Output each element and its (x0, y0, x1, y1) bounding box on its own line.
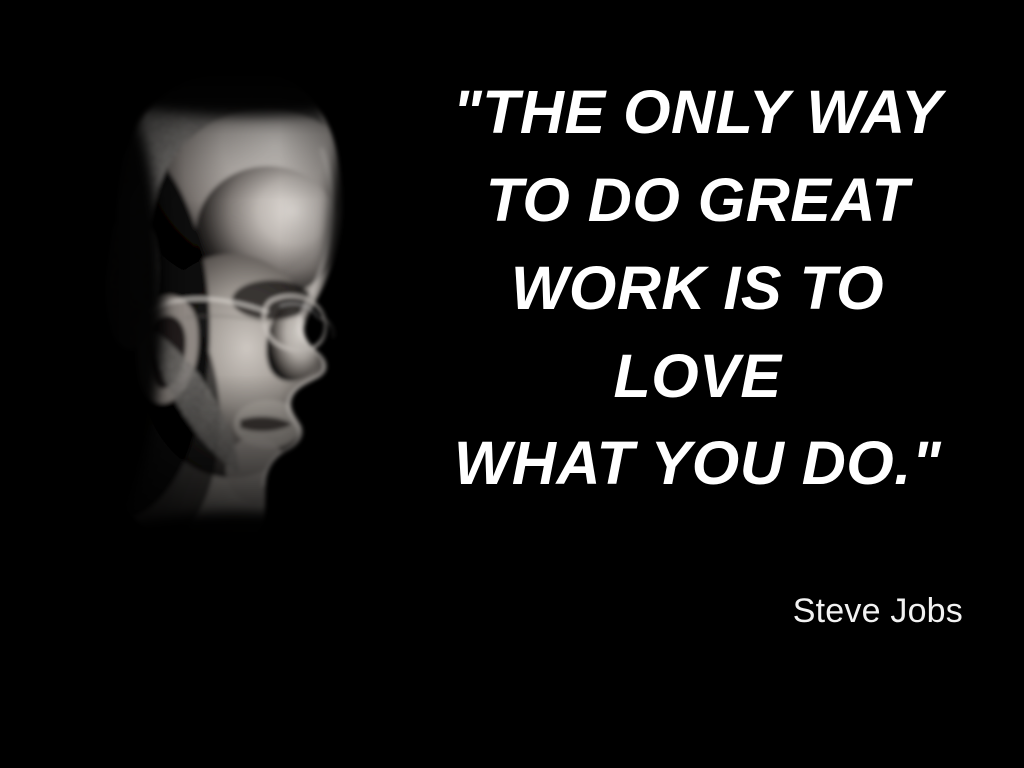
quote-line-4: LOVE (425, 332, 970, 420)
quote-attribution: Steve Jobs (793, 592, 963, 631)
quote-text: "THE ONLY WAY TO DO GREAT WORK IS TO LOV… (425, 68, 970, 506)
quote-line-2: TO DO GREAT (425, 156, 970, 244)
quote-line-3: WORK IS TO (425, 244, 970, 332)
quote-line-5: WHAT YOU DO." (425, 420, 970, 506)
quote-line-1: "THE ONLY WAY (425, 68, 970, 156)
portrait-illustration (0, 0, 470, 640)
quote-card: "THE ONLY WAY TO DO GREAT WORK IS TO LOV… (0, 0, 1024, 768)
portrait-photo (0, 0, 470, 640)
